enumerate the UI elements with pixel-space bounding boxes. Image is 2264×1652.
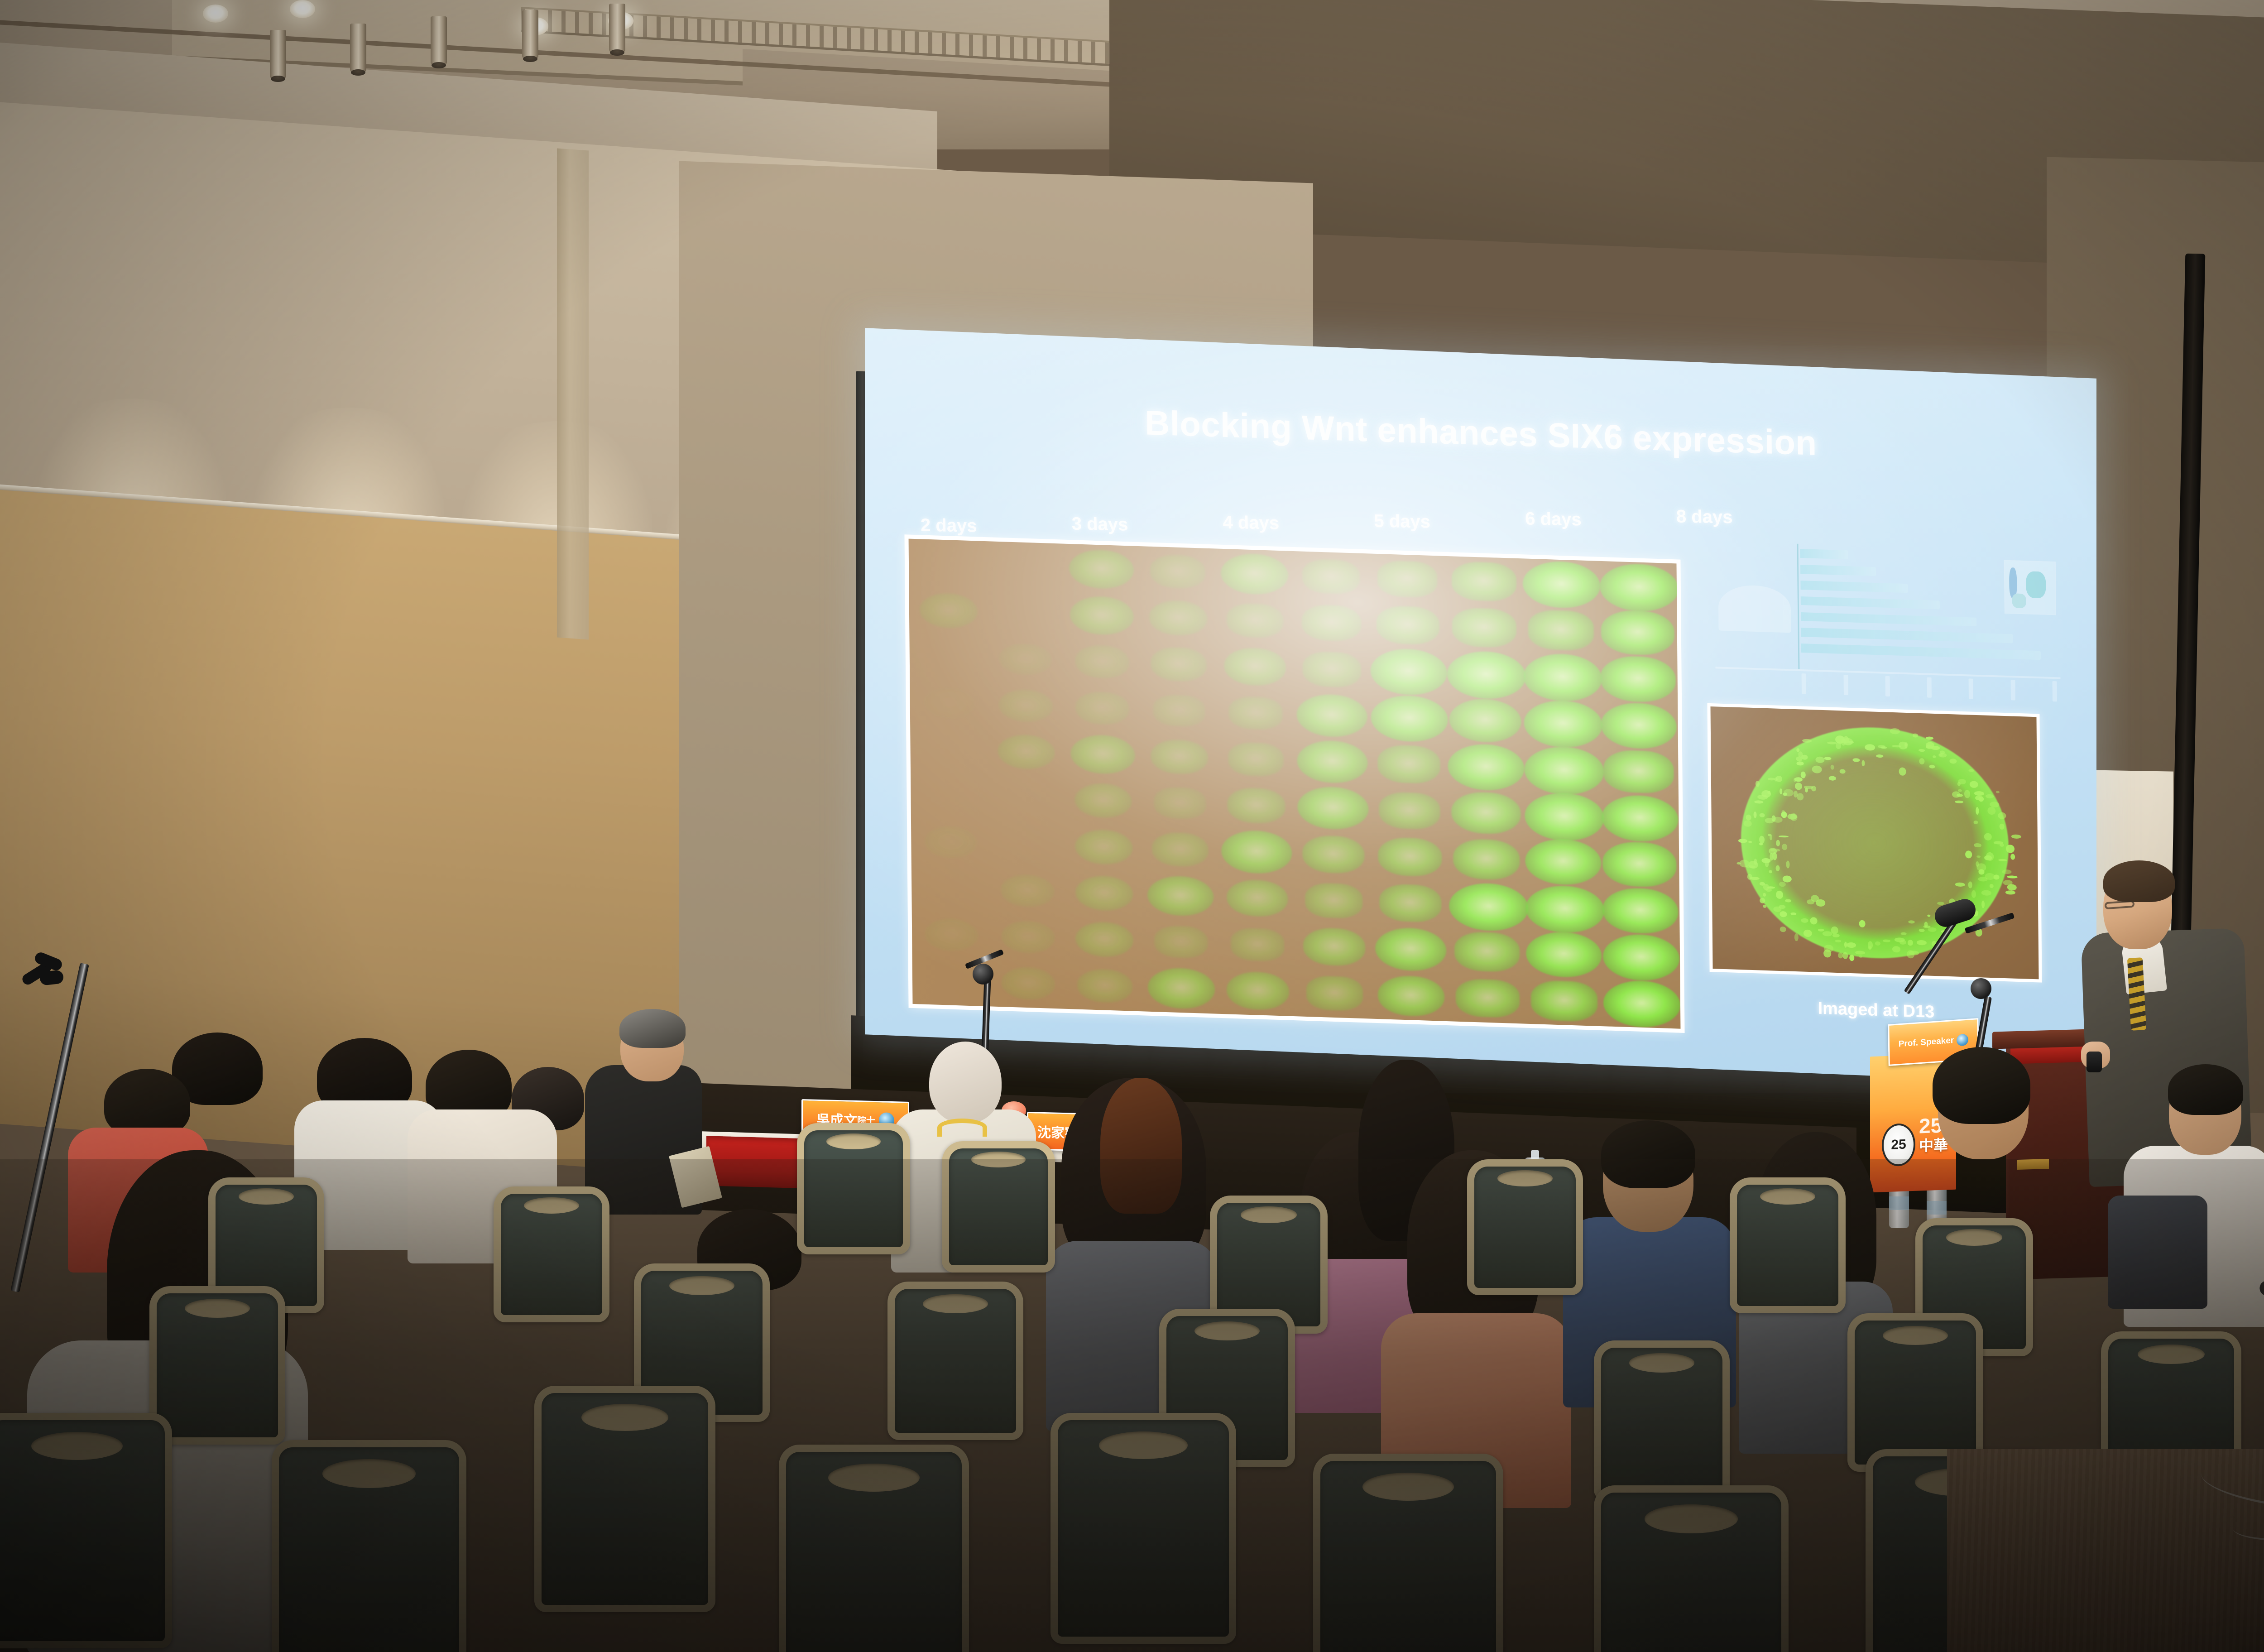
organoid-well bbox=[1148, 967, 1215, 1009]
fluorescent-speck bbox=[1928, 927, 1937, 932]
fluorescent-speck bbox=[1737, 862, 1741, 864]
fluorescent-speck bbox=[1899, 940, 1906, 945]
banquet-chair bbox=[1467, 1159, 1583, 1295]
fluorescent-speck bbox=[2007, 875, 2018, 878]
organoid-well bbox=[1001, 874, 1055, 908]
banquet-chair bbox=[1313, 1454, 1503, 1652]
organoid-well bbox=[1379, 884, 1441, 922]
organoid-well bbox=[1153, 694, 1205, 727]
fluorescent-speck bbox=[1769, 870, 1772, 873]
fluorescent-speck bbox=[1950, 759, 1957, 764]
fluorescent-speck bbox=[1939, 753, 1943, 756]
fluorescent-speck bbox=[1758, 795, 1768, 800]
organoid-well bbox=[1003, 783, 1051, 813]
organoid-well bbox=[1228, 787, 1286, 824]
conference-hall-photo: Blocking Wnt enhances SIX6 expression 2 … bbox=[0, 0, 2264, 1652]
day-label: 6 days bbox=[1525, 509, 1582, 530]
fluorescent-speck bbox=[1892, 946, 1900, 952]
fluorescent-speck bbox=[1776, 840, 1780, 846]
monopod-tripod-head bbox=[18, 956, 72, 996]
fluorescent-speck bbox=[1998, 812, 2006, 819]
organoid-well bbox=[1228, 696, 1283, 730]
fluorescent-speck bbox=[1779, 881, 1786, 887]
organoid-well bbox=[1455, 931, 1521, 972]
fluorescent-speck bbox=[1909, 920, 1915, 923]
chart-y-axis bbox=[1797, 544, 1799, 671]
organoid-well bbox=[1602, 887, 1679, 934]
speaker-name-text: Prof. Speaker bbox=[1899, 1036, 1954, 1050]
attendee-hair bbox=[619, 1009, 686, 1048]
floor-mic-joint bbox=[973, 964, 993, 984]
fluorescent-speck bbox=[1890, 728, 1900, 734]
fluorescent-speck bbox=[1807, 899, 1814, 904]
fluorescent-speck bbox=[1957, 793, 1963, 797]
organoid-well bbox=[1453, 838, 1520, 880]
fluorescent-speck bbox=[1970, 781, 1978, 788]
organoid-well bbox=[1077, 968, 1132, 1003]
fluorescent-speck bbox=[1796, 761, 1804, 765]
organoid-well bbox=[1003, 829, 1052, 860]
fluorescent-speck bbox=[1832, 933, 1840, 937]
organoid-well bbox=[1600, 562, 1679, 612]
fluorescent-speck bbox=[2006, 845, 2015, 853]
fluorescent-speck bbox=[1765, 818, 1774, 824]
organoid-well bbox=[1069, 549, 1134, 590]
organoid-well bbox=[926, 642, 973, 671]
fluorescent-speck bbox=[1955, 800, 1963, 803]
projection-screen: Blocking Wnt enhances SIX6 expression 2 … bbox=[865, 328, 2096, 1085]
fluorescent-speck bbox=[1812, 765, 1822, 773]
organoid-well bbox=[1152, 832, 1209, 867]
organoid-well bbox=[1524, 699, 1602, 748]
organoid-well bbox=[1075, 645, 1130, 679]
organoid-well bbox=[1377, 605, 1439, 645]
banquet-chair bbox=[534, 1386, 715, 1612]
attendee-head bbox=[929, 1042, 1002, 1123]
banquet-chair bbox=[1730, 1177, 1846, 1313]
organoid-well bbox=[1297, 740, 1368, 784]
organoid-well bbox=[1604, 749, 1674, 794]
fluorescent-speck bbox=[1746, 814, 1751, 820]
organoid-well bbox=[1227, 971, 1290, 1010]
fluorescent-speck bbox=[1883, 939, 1891, 942]
fluorescent-speck bbox=[1847, 942, 1856, 948]
fluorescent-speck bbox=[1862, 760, 1865, 766]
fluorescent-speck bbox=[2000, 823, 2005, 830]
wall-pilaster bbox=[557, 149, 589, 640]
fluorescent-speck bbox=[1795, 783, 1802, 790]
fluorescent-speck bbox=[1933, 755, 1936, 758]
organoid-well bbox=[1071, 734, 1135, 774]
banquet-chair bbox=[0, 1413, 172, 1648]
fluorescent-speck bbox=[1976, 796, 1982, 800]
fluorescent-speck bbox=[1876, 754, 1883, 758]
attendee-lanyard bbox=[937, 1119, 987, 1137]
chart-bar bbox=[1801, 581, 1908, 593]
fluorescent-speck bbox=[1965, 850, 1972, 858]
fluorescent-speck bbox=[1760, 813, 1765, 817]
fluorescent-speck bbox=[1958, 789, 1962, 792]
backpack bbox=[2108, 1196, 2207, 1309]
organoid-well bbox=[924, 687, 975, 720]
fluorescent-speck bbox=[1816, 756, 1825, 763]
fluorescent-speck bbox=[1958, 779, 1966, 784]
organoid-well bbox=[1524, 653, 1602, 702]
fluorescent-speck bbox=[1971, 890, 1976, 898]
organoid-well bbox=[1154, 787, 1206, 820]
day-label: 3 days bbox=[1072, 514, 1129, 535]
fluorescent-speck bbox=[1904, 742, 1908, 749]
fluorescent-speck bbox=[1738, 839, 1747, 843]
organoid-well bbox=[925, 549, 972, 579]
organoid-well bbox=[1379, 791, 1440, 830]
fluorescent-speck bbox=[1937, 902, 1944, 905]
fluorescent-speck bbox=[1794, 778, 1796, 782]
fluorescent-speck bbox=[1919, 928, 1925, 932]
fluorescent-speck bbox=[1917, 940, 1927, 945]
attendee-hair bbox=[1933, 1047, 2030, 1124]
chart-bar bbox=[1801, 596, 1940, 610]
fluorescent-speck bbox=[1919, 749, 1925, 752]
organoid-well bbox=[999, 643, 1052, 676]
fluorescent-speck bbox=[2003, 880, 2012, 886]
banquet-chair bbox=[1050, 1413, 1236, 1644]
fluorescent-speck bbox=[1853, 758, 1860, 762]
cylinder-pendant-light bbox=[270, 30, 286, 79]
fluorescent-speck bbox=[1794, 791, 1798, 797]
d13-micrograph bbox=[1711, 706, 2039, 979]
fluorescent-speck bbox=[1835, 940, 1841, 942]
fluorescent-speck bbox=[1974, 843, 1981, 847]
organoid-well bbox=[1222, 830, 1293, 874]
organoid-well bbox=[1448, 743, 1525, 791]
cylinder-pendant-light bbox=[522, 10, 538, 59]
organoid-well bbox=[1302, 604, 1361, 641]
organoid-well bbox=[1601, 610, 1674, 656]
organoid-well bbox=[998, 734, 1055, 770]
fluorescent-speck bbox=[2011, 834, 2021, 839]
organoid-well bbox=[1377, 560, 1438, 598]
recessed-downlight bbox=[290, 0, 315, 18]
organoid-well bbox=[1531, 980, 1598, 1022]
fluorescent-speck bbox=[1899, 767, 1906, 776]
organoid-well bbox=[1001, 552, 1049, 582]
fluorescent-speck bbox=[1865, 744, 1875, 750]
banquet-chair bbox=[494, 1186, 609, 1322]
organoid-well bbox=[1603, 933, 1680, 981]
organoid-well bbox=[1303, 651, 1362, 687]
fluorescent-speck bbox=[1763, 884, 1769, 890]
fluorescent-speck bbox=[1748, 861, 1758, 869]
organoid-well bbox=[1371, 648, 1448, 696]
banquet-chair bbox=[272, 1440, 466, 1652]
fluorescent-speck bbox=[1999, 859, 2007, 861]
organoid-well bbox=[1452, 607, 1517, 648]
organoid-well bbox=[927, 873, 975, 903]
fluorescent-speck bbox=[1818, 928, 1824, 932]
chart-bar bbox=[1801, 644, 2040, 660]
organoid-well bbox=[1452, 561, 1516, 602]
fluorescent-speck bbox=[1765, 859, 1769, 867]
organoid-well bbox=[1151, 647, 1207, 682]
recessed-downlight bbox=[203, 5, 228, 23]
fluorescent-speck bbox=[1744, 820, 1751, 827]
fluorescent-speck bbox=[1984, 855, 1992, 860]
organoid-well bbox=[1221, 553, 1289, 595]
fluorescent-speck bbox=[1926, 736, 1933, 740]
name-tent-logo-icon bbox=[1957, 1034, 1968, 1047]
organoid-well bbox=[1231, 927, 1285, 961]
fluorescent-speck bbox=[1850, 955, 1855, 961]
micrograph-montage bbox=[909, 538, 1680, 1028]
organoid-well bbox=[1151, 739, 1209, 775]
organoid-well bbox=[1070, 595, 1134, 635]
organoid-well bbox=[1297, 693, 1368, 737]
fluorescent-speck bbox=[1776, 890, 1783, 899]
organoid-well bbox=[927, 965, 977, 997]
fluorescent-speck bbox=[2005, 890, 2015, 894]
fluorescent-speck bbox=[1770, 853, 1774, 860]
fluorescent-speck bbox=[1990, 884, 1994, 888]
organoid-well bbox=[1227, 602, 1283, 638]
cylinder-pendant-light bbox=[431, 16, 447, 65]
fluorescent-speck bbox=[1781, 812, 1787, 818]
d13-micrograph-frame: Imaged at D13 bbox=[1708, 703, 2043, 983]
fluorescent-speck bbox=[1804, 786, 1813, 789]
organoid-well bbox=[1224, 647, 1286, 686]
organoid-well bbox=[1602, 841, 1677, 888]
organoid-well bbox=[1375, 927, 1447, 972]
fluorescent-speck bbox=[1859, 920, 1866, 927]
slide-day-labels: 2 days 3 days 4 days 5 days 6 days 8 day… bbox=[920, 504, 1733, 536]
fluorescent-speck bbox=[1770, 848, 1780, 851]
organoid-well bbox=[1378, 975, 1445, 1017]
speaker-hair bbox=[2103, 860, 2175, 902]
attendee-hair bbox=[1100, 1078, 1182, 1214]
organoid-well bbox=[1447, 650, 1526, 700]
organoid-well bbox=[1525, 792, 1605, 841]
fluorescent-speck bbox=[1908, 940, 1913, 946]
banquet-chair bbox=[797, 1123, 910, 1254]
organoid-well bbox=[924, 826, 977, 859]
fluorescent-speck bbox=[1780, 927, 1786, 932]
organoid-well bbox=[1525, 838, 1602, 886]
fluorescent-speck bbox=[1798, 752, 1803, 757]
fluorescent-speck bbox=[1791, 912, 1797, 915]
organoid-well bbox=[1302, 835, 1365, 874]
fluorescent-speck bbox=[1801, 918, 1808, 923]
fluorescent-speck bbox=[1996, 791, 2000, 793]
fluorescent-speck bbox=[1976, 855, 1981, 858]
fluorescent-speck bbox=[1955, 882, 1965, 886]
organoid-well bbox=[920, 592, 978, 629]
fluorescent-speck bbox=[1776, 865, 1780, 871]
organoid-well bbox=[1075, 783, 1132, 818]
slide-bar-chart bbox=[1714, 541, 2060, 679]
chart-bar bbox=[1800, 565, 1876, 576]
organoid-well bbox=[1227, 879, 1288, 917]
fluorescent-speck bbox=[1924, 922, 1928, 927]
organoid-well bbox=[925, 917, 979, 951]
fluorescent-speck bbox=[1773, 852, 1777, 860]
organoid-well bbox=[1449, 882, 1529, 932]
banner-seal-icon: 25 bbox=[1882, 1123, 1915, 1167]
organoid-well bbox=[1148, 875, 1214, 917]
lectern-gold-trim bbox=[2017, 1159, 2049, 1170]
organoid-well bbox=[1150, 554, 1206, 589]
organoid-well bbox=[1155, 925, 1208, 959]
fluorescent-speck bbox=[1836, 742, 1841, 749]
organoid-well bbox=[1302, 558, 1360, 595]
fluorescent-speck bbox=[1760, 898, 1765, 903]
fluorescent-speck bbox=[1763, 905, 1766, 908]
fluorescent-speck bbox=[1968, 882, 1972, 888]
day-label: 5 days bbox=[1374, 511, 1431, 532]
fluorescent-speck bbox=[1750, 877, 1760, 880]
fluorescent-speck bbox=[1868, 941, 1873, 949]
slide-title: Blocking Wnt enhances SIX6 expression bbox=[963, 398, 1998, 469]
organoid-well bbox=[1378, 836, 1442, 877]
fluorescent-speck bbox=[1782, 875, 1792, 883]
organoid-well bbox=[1228, 742, 1284, 777]
organoid-well bbox=[1601, 701, 1677, 749]
cylinder-pendant-light bbox=[609, 4, 625, 53]
organoid-well bbox=[1001, 597, 1050, 628]
organoid-well bbox=[1525, 745, 1605, 796]
attendee-hair bbox=[104, 1069, 190, 1137]
organoid-well bbox=[1002, 920, 1055, 954]
organoid-well bbox=[1076, 691, 1130, 725]
fluorescent-speck bbox=[1827, 741, 1837, 744]
organoid-well bbox=[1305, 883, 1363, 919]
organoid-well bbox=[1378, 744, 1441, 784]
organoid-well bbox=[925, 734, 975, 765]
fluorescent-speck bbox=[1881, 746, 1887, 749]
organoid-well bbox=[1528, 610, 1594, 651]
chart-bar bbox=[1801, 628, 2013, 643]
fluorescent-speck bbox=[1753, 812, 1756, 818]
fluorescent-speck bbox=[1840, 769, 1846, 773]
fluorescent-speck bbox=[1981, 890, 1991, 896]
attendee-hair bbox=[1601, 1120, 1695, 1188]
fluorescent-speck bbox=[1979, 869, 1985, 874]
podium-mic-joint bbox=[1971, 978, 1991, 999]
fluorescent-speck bbox=[1739, 860, 1749, 868]
organoid-well bbox=[1452, 791, 1521, 835]
organoid-well bbox=[1149, 600, 1208, 636]
chart-legend-box bbox=[1718, 585, 1791, 633]
fluorescent-speck bbox=[1855, 951, 1865, 954]
fluorescent-speck bbox=[2010, 854, 2015, 860]
d13-caption: Imaged at D13 bbox=[1710, 995, 2043, 1025]
organoid-well bbox=[999, 688, 1053, 722]
cylinder-pendant-light bbox=[350, 24, 366, 72]
organoid-well bbox=[1526, 931, 1602, 978]
organoid-well bbox=[1002, 966, 1055, 1000]
chart-bar bbox=[1800, 549, 1848, 559]
fluorescent-speck bbox=[1931, 745, 1940, 750]
organoid-well bbox=[1076, 921, 1134, 957]
fluorescent-speck bbox=[1786, 860, 1789, 869]
presentation-clicker[interactable] bbox=[2087, 1052, 2102, 1072]
fluorescent-speck bbox=[1964, 790, 1970, 798]
organoid-well bbox=[925, 780, 975, 812]
organoid-well bbox=[1075, 875, 1133, 911]
banquet-chair bbox=[779, 1445, 969, 1652]
attendee-hair bbox=[2168, 1064, 2243, 1115]
fluorescent-speck bbox=[1875, 941, 1880, 946]
fluorescent-speck bbox=[1794, 933, 1798, 941]
banquet-chair bbox=[1847, 1313, 1983, 1472]
organoid-well bbox=[1298, 786, 1369, 831]
fluorescent-speck bbox=[1984, 833, 1992, 840]
day-label: 4 days bbox=[1223, 512, 1280, 533]
fluorescent-speck bbox=[1976, 807, 1979, 815]
fluorescent-speck bbox=[1828, 776, 1836, 780]
chart-x-ticks bbox=[1802, 673, 2057, 701]
chart-bar bbox=[1801, 612, 1976, 626]
fluorescent-speck bbox=[1901, 932, 1906, 935]
day-label: 2 days bbox=[921, 515, 978, 537]
banquet-chair bbox=[942, 1141, 1055, 1273]
fluorescent-speck bbox=[1756, 781, 1760, 787]
fluorescent-speck bbox=[1859, 956, 1862, 958]
fluorescent-speck bbox=[1987, 807, 1995, 815]
fluorescent-speck bbox=[1788, 814, 1797, 820]
fluorescent-speck bbox=[1986, 794, 1994, 798]
organoid-well bbox=[1523, 560, 1600, 609]
banquet-chair bbox=[1594, 1340, 1730, 1501]
micrograph-montage-frame bbox=[905, 534, 1685, 1033]
organoid-well bbox=[1303, 927, 1366, 967]
organoid-well bbox=[1600, 655, 1676, 703]
organoid-well bbox=[1449, 698, 1522, 743]
organoid-well bbox=[1306, 975, 1363, 1011]
fluorescent-speck bbox=[1838, 952, 1843, 959]
banquet-chair bbox=[887, 1282, 1023, 1440]
fluorescent-speck bbox=[1830, 764, 1834, 770]
fluorescent-speck bbox=[1797, 793, 1804, 800]
organoid-well bbox=[1526, 884, 1605, 934]
fluorescent-speck bbox=[1773, 906, 1781, 912]
fluorescent-speck bbox=[1785, 899, 1792, 902]
organoid-well bbox=[1371, 694, 1448, 743]
chart-inset-thumbnail bbox=[2004, 560, 2056, 615]
fluorescent-speck bbox=[2000, 843, 2004, 847]
organoid-well bbox=[1603, 980, 1681, 1028]
day-label: 8 days bbox=[1676, 506, 1733, 528]
organoid-well bbox=[1075, 829, 1133, 865]
fluorescent-speck bbox=[1749, 840, 1752, 843]
organoid-well bbox=[1456, 978, 1520, 1018]
banquet-chair bbox=[1594, 1485, 1789, 1652]
fluorescent-speck bbox=[1824, 949, 1832, 958]
organoid-well bbox=[1602, 794, 1679, 843]
